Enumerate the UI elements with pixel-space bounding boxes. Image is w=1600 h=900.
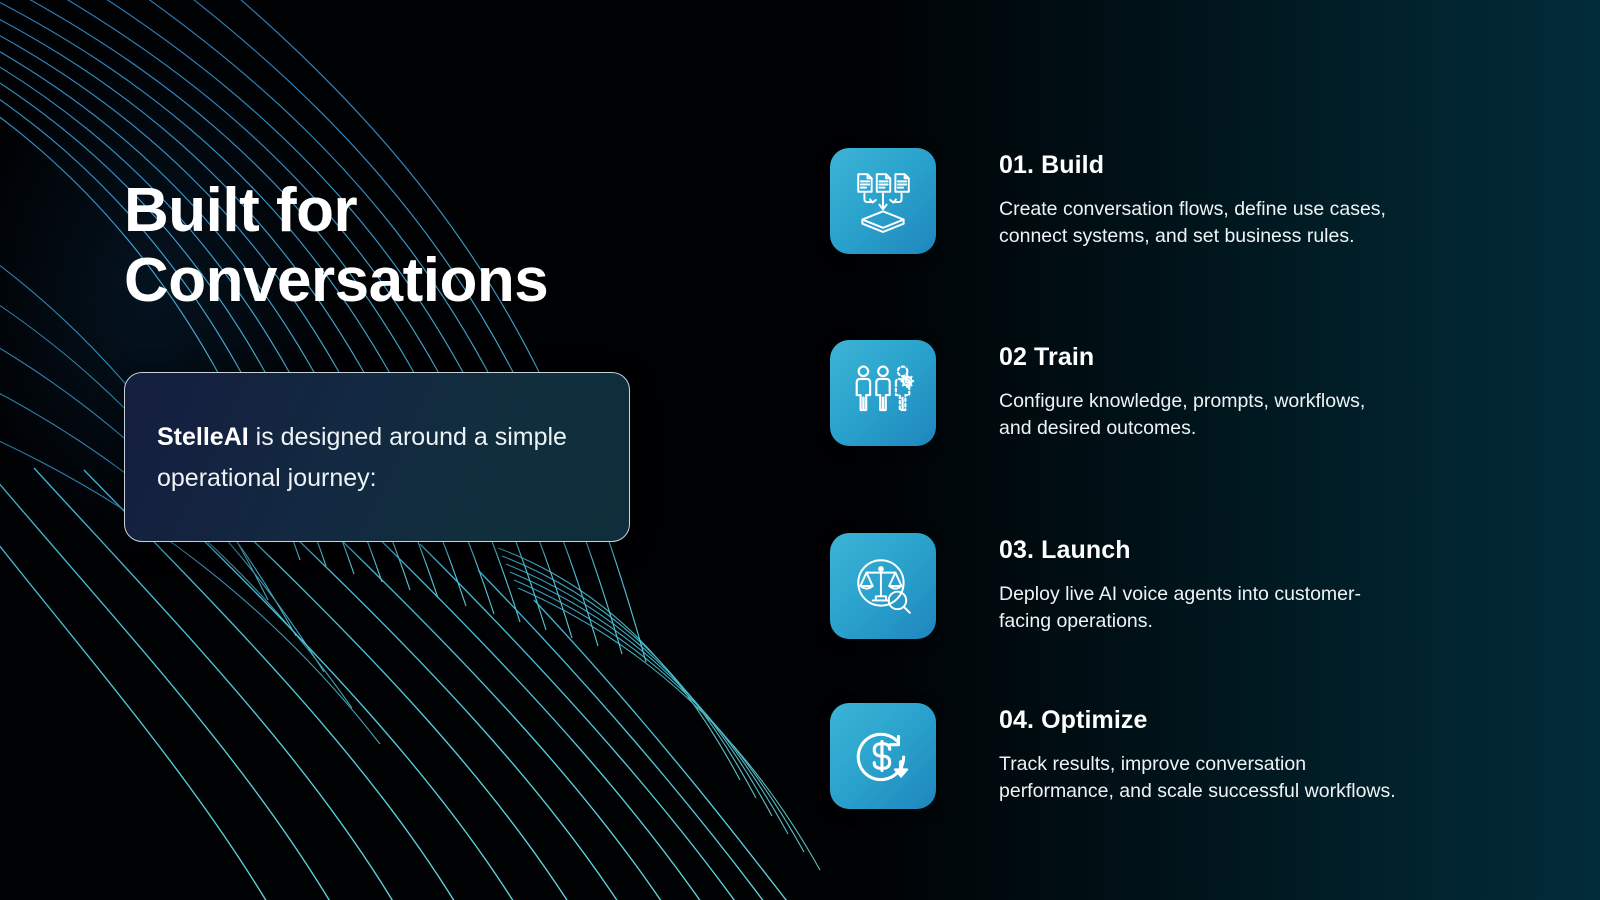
step-description: Configure knowledge, prompts, workflows,… (999, 388, 1399, 442)
three-people-configure-icon (850, 360, 916, 426)
headline-block: Built for Conversations (124, 176, 724, 316)
step-description: Create conversation flows, define use ca… (999, 196, 1399, 250)
documents-to-platform-icon (850, 168, 916, 234)
step-icon-tile (830, 703, 936, 809)
intro-callout-text: StelleAI is designed around a simple ope… (157, 417, 587, 499)
step-title: 03. Launch (999, 535, 1399, 565)
step-description: Track results, improve conversation perf… (999, 751, 1399, 805)
step-item-launch: 03. Launch Deploy live AI voice agents i… (830, 533, 1399, 639)
step-item-train: 02 Train Configure knowledge, prompts, w… (830, 340, 1399, 446)
step-title: 04. Optimize (999, 705, 1399, 735)
step-item-build: 01. Build Create conversation flows, def… (830, 148, 1399, 254)
step-text-block: 03. Launch Deploy live AI voice agents i… (999, 533, 1399, 635)
step-text-block: 01. Build Create conversation flows, def… (999, 148, 1399, 250)
scales-magnifier-icon (850, 553, 916, 619)
step-item-optimize: 04. Optimize Track results, improve conv… (830, 703, 1399, 809)
step-icon-tile (830, 340, 936, 446)
slide-canvas: Built for Conversations StelleAI is desi… (0, 0, 1600, 900)
step-text-block: 02 Train Configure knowledge, prompts, w… (999, 340, 1399, 442)
step-title: 02 Train (999, 342, 1399, 372)
step-title: 01. Build (999, 150, 1399, 180)
step-icon-tile (830, 533, 936, 639)
page-title-line-1: Built for (124, 176, 357, 245)
brand-name: StelleAI (157, 423, 249, 451)
dollar-refresh-down-icon (850, 723, 916, 789)
page-title-line-2: Conversations (124, 246, 548, 315)
step-icon-tile (830, 148, 936, 254)
page-title: Built for Conversations (124, 176, 724, 316)
intro-callout-card: StelleAI is designed around a simple ope… (124, 372, 630, 542)
step-description: Deploy live AI voice agents into custome… (999, 581, 1399, 635)
step-text-block: 04. Optimize Track results, improve conv… (999, 703, 1399, 805)
